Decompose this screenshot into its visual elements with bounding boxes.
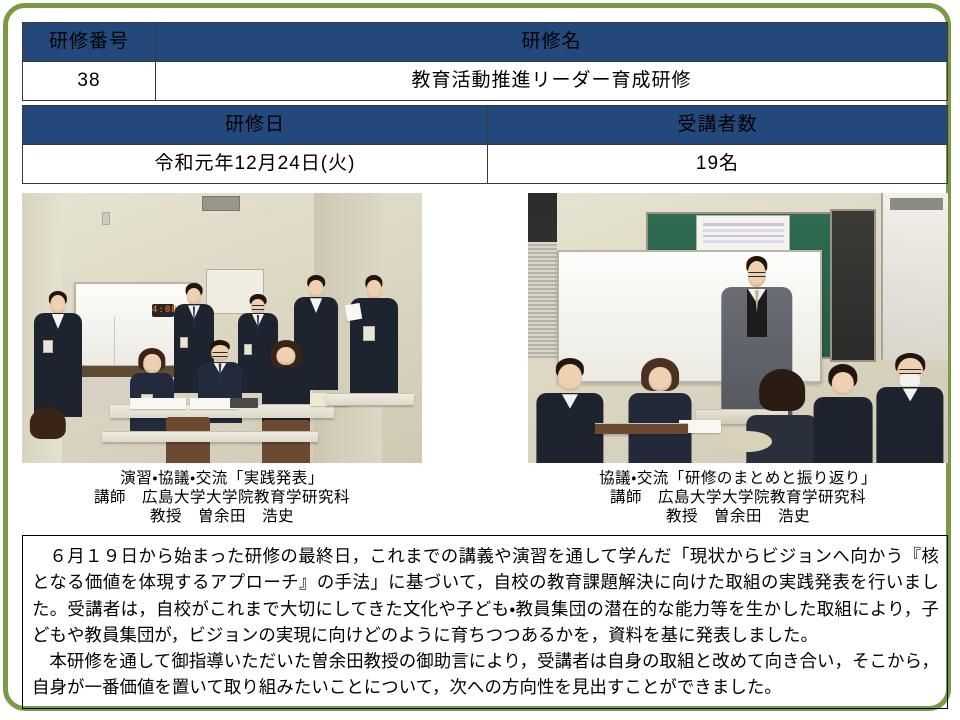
photo2-s2-head [649,367,672,392]
photo1-p1-head [50,295,65,314]
caption-1-line-1: 演習・協議・交流「実践発表」 [22,469,422,488]
photo1-digital-timer: 4:08 [152,304,174,318]
value-participant-count: 19名 [488,145,948,184]
photo2-chalkboard-dark [830,209,876,362]
photo1-s3-head [276,347,295,365]
photo1-s1-head [143,354,161,372]
photo2-s4-head [832,372,854,395]
photo2-projected-table [696,215,790,252]
photo2-slide-row-3 [703,235,784,238]
value-training-number: 38 [23,62,156,101]
table-row-header-bottom: 研修日 受講者数 [23,106,948,145]
photo1-p1-badge [43,340,54,353]
photo1-p5-handout [345,303,363,322]
photo2-person-seated-5 [877,355,944,463]
header-training-name: 研修名 [156,23,948,62]
report-body-box: ６月１９日から始まった研修の最終日，これまでの講義や演習を通して学んだ「現状から… [22,535,948,709]
report-paragraph-2: 本研修を通して御指導いただいた曽余田教授の御助言により，受講者は自身の取組と改め… [32,648,939,701]
photo1-person-standing-1 [34,293,82,417]
photo-row: 4:08 [22,193,948,463]
table-row-value-bottom: 令和元年12月24日(火) 19名 [23,145,948,184]
page-green-frame: 研修番号 研修名 38 教育活動推進リーダー育成研修 研修日 受講者数 令和元年… [3,3,951,711]
photo2-s4-torso [814,397,873,463]
photo2-person-seated-2 [629,360,692,463]
photo1-p2-badge [180,337,189,349]
header-training-date: 研修日 [23,106,488,145]
header-training-number: 研修番号 [23,23,156,62]
caption-photo-1: 演習・協議・交流「実践発表」 講師 広島大学大学院教育学研究科 教授 曽余田 浩… [22,469,422,526]
photo2-s1-head [558,364,582,391]
photo2-slide-row-4 [703,240,784,243]
report-content: 研修番号 研修名 38 教育活動推進リーダー育成研修 研修日 受講者数 令和元年… [22,22,954,704]
photo1-wall-switch [102,212,110,225]
photo2-s3-hair [759,369,805,411]
value-training-name: 教育活動推進リーダー育成研修 [156,62,948,101]
caption-photo-2: 協議・交流「研修のまとめと振り返り」 講師 広島大学大学院教育学研究科 教授 曽… [528,469,948,526]
photo2-person-seated-4 [814,366,873,463]
training-info-table-top: 研修番号 研修名 38 教育活動推進リーダー育成研修 [22,22,948,101]
training-info-table-bottom: 研修日 受講者数 令和元年12月24日(火) 19名 [22,105,948,184]
caption-2-line-2: 講師 広島大学大学院教育学研究科 [528,488,948,507]
header-participant-count: 受講者数 [488,106,948,145]
photo1-p2-head [187,288,201,305]
photo1-desk-3 [326,393,414,405]
photo1-keyboard [230,398,258,407]
photo1-air-vent [202,196,240,212]
photo1-fg-hair [30,407,66,439]
photo2-slide-row-2 [703,229,784,232]
photo1-desk-papers-1 [130,398,186,409]
report-paragraph-1: ６月１９日から始まった研修の最終日，これまでの講義や演習を通して学んだ「現状から… [32,543,939,648]
photo1-p3-glasses-icon [252,305,264,310]
table-row-value-top: 38 教育活動推進リーダー育成研修 [23,62,948,101]
photo-practice-presentation: 4:08 [22,193,422,463]
photo2-slide-row-1 [703,223,784,226]
photo1-s2-glasses-icon [213,352,228,357]
photo1-p4-head [309,280,324,298]
caption-1-line-3: 教授 曽余田 浩史 [22,507,422,526]
photo1-p3-badge [244,344,253,355]
caption-2-line-1: 協議・交流「研修のまとめと振り返り」 [528,469,948,488]
photo-summary-reflection [528,193,948,463]
caption-1-line-2: 講師 広島大学大学院教育学研究科 [22,488,422,507]
caption-2-line-3: 教授 曽余田 浩史 [528,507,948,526]
photo2-desk-front [595,423,687,435]
caption-row: 演習・協議・交流「実践発表」 講師 広島大学大学院教育学研究科 教授 曽余田 浩… [22,469,948,526]
photo1-p5-head [367,280,382,299]
photo2-person-seated-1 [536,360,603,463]
photo2-desk-bag [721,431,771,453]
table-row-header-top: 研修番号 研修名 [23,23,948,62]
photo2-projector-screen [881,193,948,360]
photo1-p5-badge [363,326,375,340]
photo1-desk-2 [102,431,318,443]
photo2-blinds [528,242,557,361]
photo1-person-standing-5 [350,277,398,401]
photo2-lecturer-glasses-icon [748,272,765,277]
photo2-s5-face-mask [900,374,920,386]
photo2-s5-glasses-icon [899,369,921,374]
photo2-screen-title [890,198,944,210]
value-training-date: 令和元年12月24日(火) [23,145,488,184]
photo1-person-foreground [22,409,74,463]
